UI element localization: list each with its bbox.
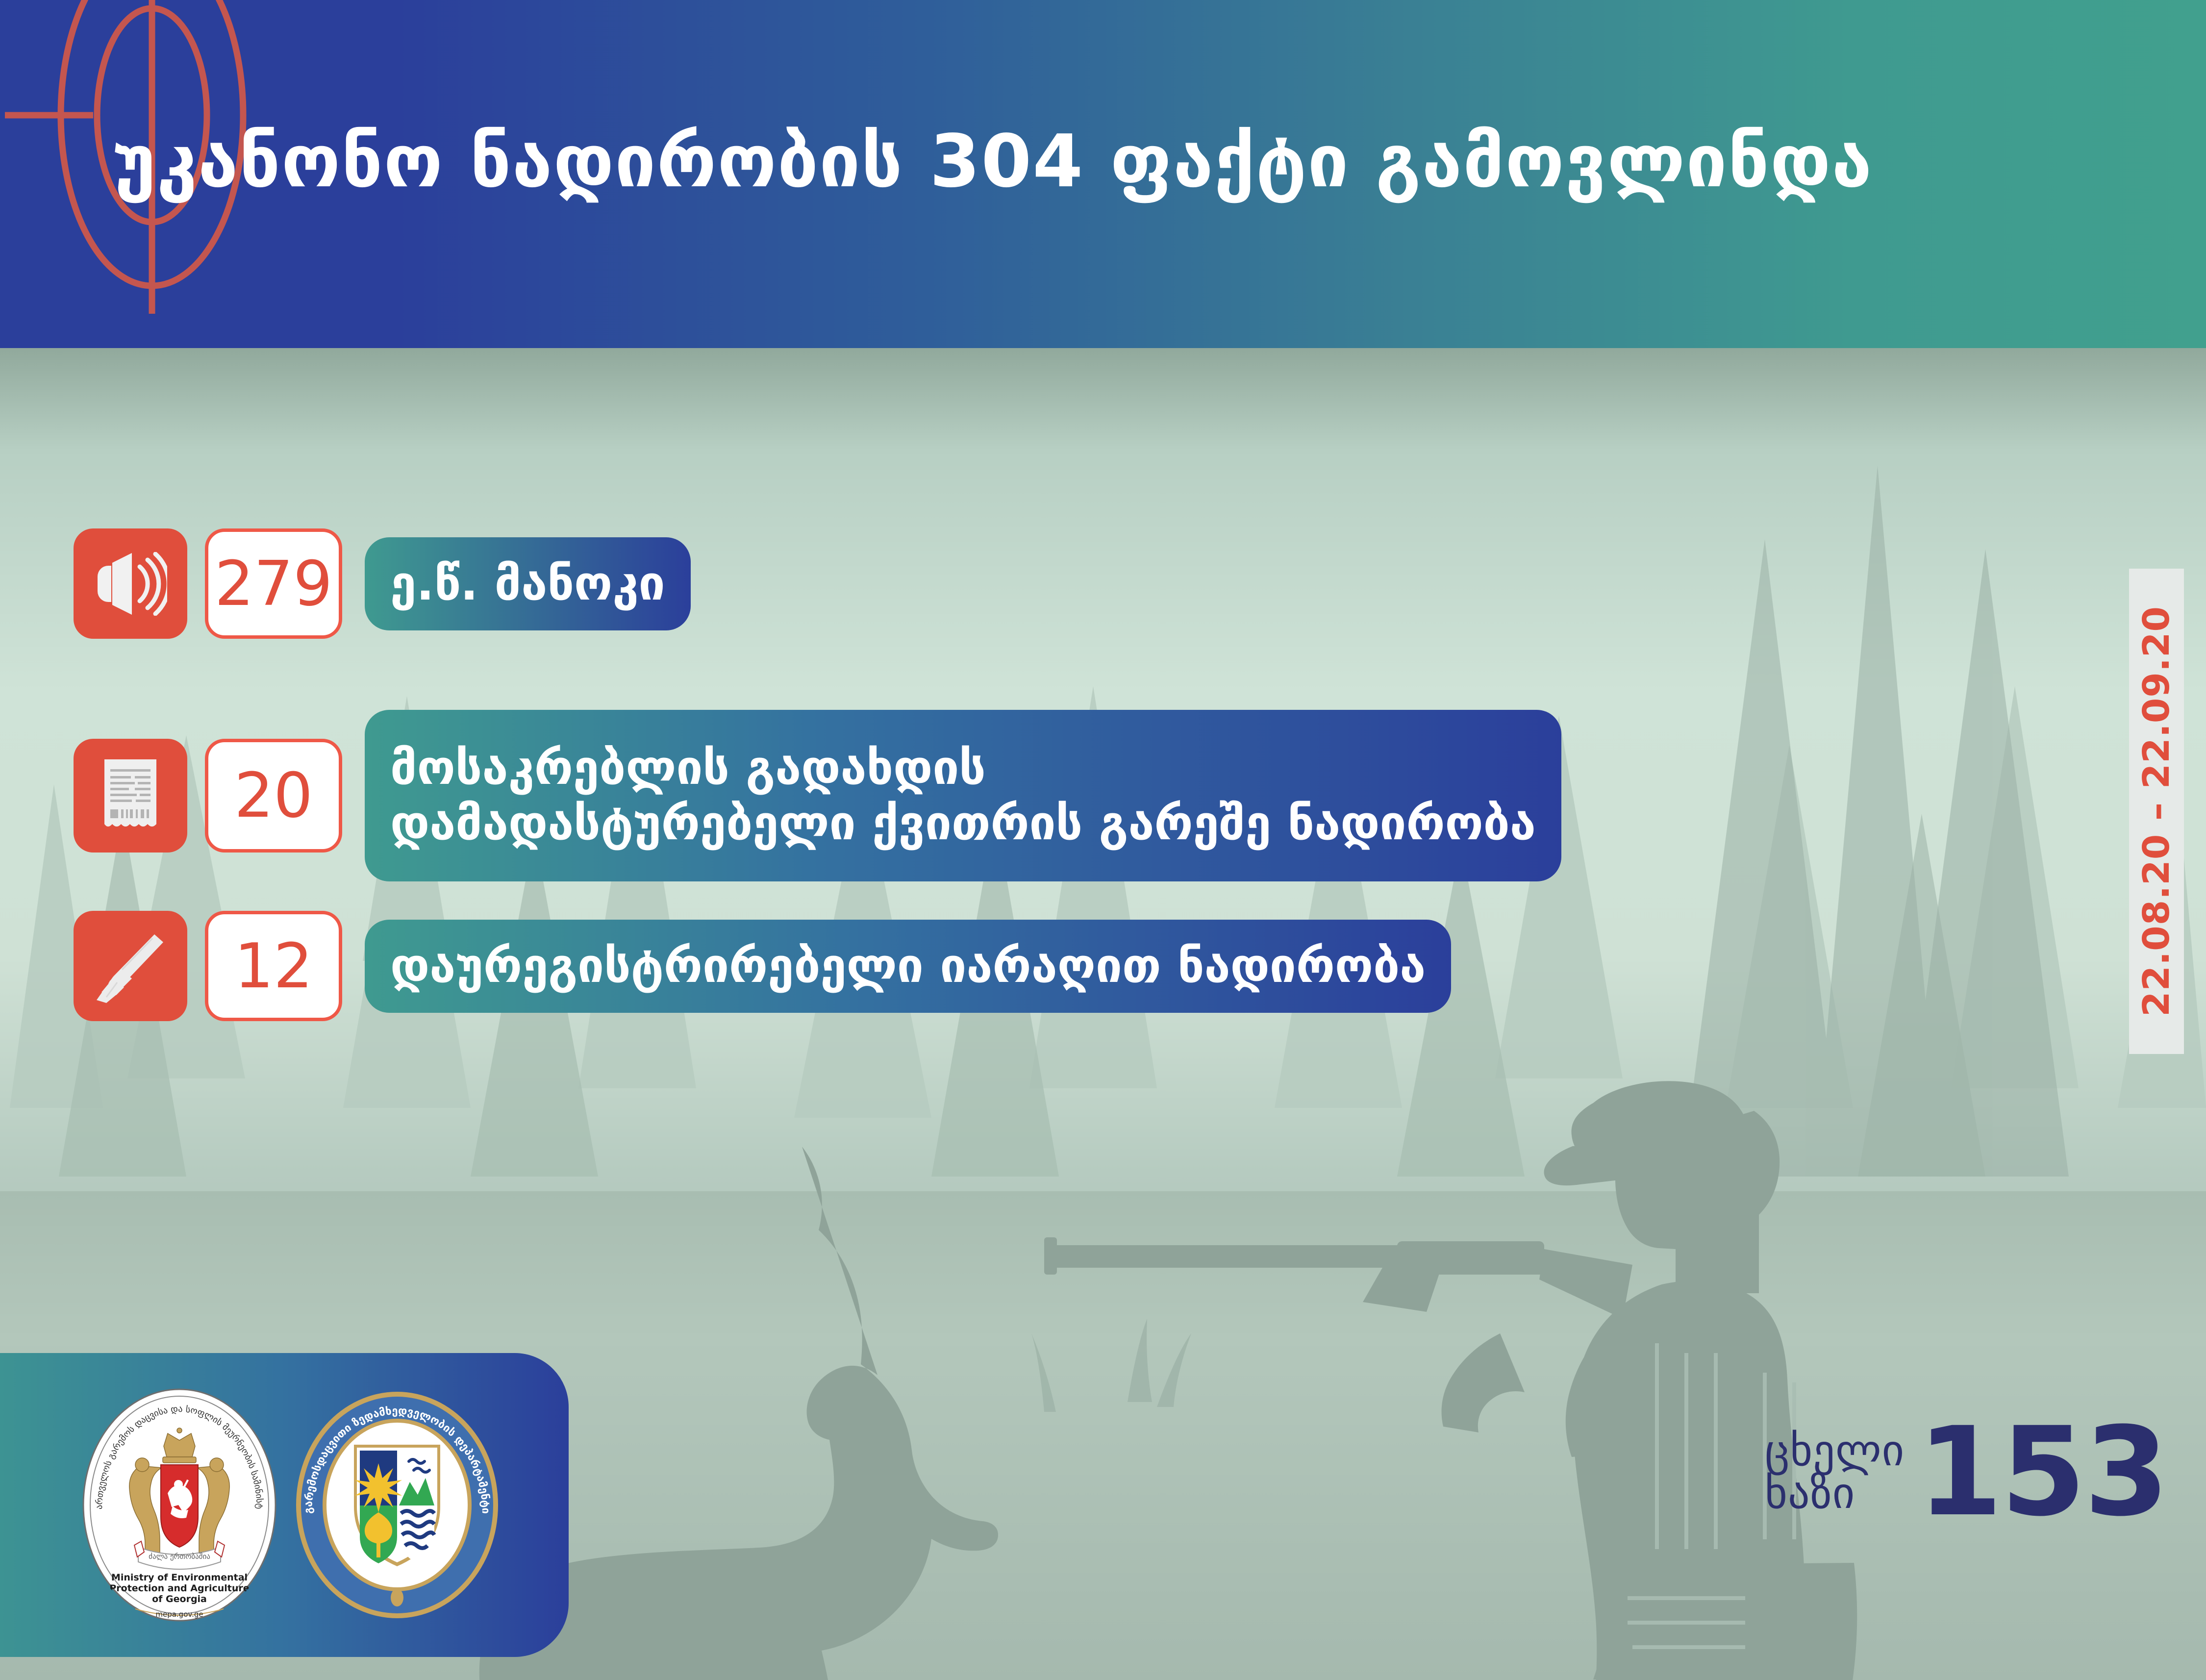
stat-value: 279 xyxy=(205,528,342,639)
stat-label: დაურეგისტრირებელი იარაღით ნადირობა xyxy=(365,920,1451,1013)
rifle-icon xyxy=(92,929,169,1003)
receipt-icon-tile xyxy=(74,739,187,853)
ministry-website: mepa.gov.ge xyxy=(155,1610,203,1619)
hotline-line-2: ხაზი xyxy=(1765,1472,1905,1514)
infographic-poster: უკანონო ნადირობის 304 ფაქტი გამოვლინდა 2… xyxy=(0,0,2206,1680)
megaphone-icon-tile xyxy=(74,528,187,639)
svg-text:Ministry of Environmental: Ministry of Environmental xyxy=(111,1572,248,1583)
rifle-icon-tile xyxy=(74,911,187,1021)
hotline-line-1: ცხელი xyxy=(1765,1429,1905,1472)
ministry-motto: ძალა ერთობაშია xyxy=(149,1552,210,1561)
stat-value: 20 xyxy=(205,739,342,853)
stat-row: 20 მოსაკრებლის გადახდის დამადასტურებელი … xyxy=(74,710,1561,881)
stat-label: ე.წ. მანოკი xyxy=(365,537,691,630)
hotline-number: 153 xyxy=(1917,1422,2167,1522)
date-range-text: 22.08.20 – 22.09.20 xyxy=(2135,606,2178,1017)
stat-row: 279 ე.წ. მანოკი xyxy=(74,528,691,639)
environmental-supervision-emblem: გარემოსდაცვითი ზედამხედველობის დეპარტამე… xyxy=(294,1390,500,1620)
stat-row: 12 დაურეგისტრირებელი იარაღით ნადირობა xyxy=(74,911,1451,1021)
megaphone-icon xyxy=(94,552,167,616)
svg-text:Protection and Agriculture: Protection and Agriculture xyxy=(109,1583,249,1594)
stat-label: მოსაკრებლის გადახდის დამადასტურებელი ქვი… xyxy=(365,710,1561,881)
date-range-badge: 22.08.20 – 22.09.20 xyxy=(2129,569,2184,1054)
stat-value: 12 xyxy=(205,911,342,1021)
svg-text:of Georgia: of Georgia xyxy=(152,1594,207,1605)
ministry-emblem: ძალა ერთობაშია საქართველოს გარემოს დაცვი… xyxy=(81,1387,277,1623)
footer-logo-panel: ძალა ერთობაშია საქართველოს გარემოს დაცვი… xyxy=(0,1353,569,1657)
receipt-icon xyxy=(101,758,159,833)
hotline-label: ცხელი ხაზი xyxy=(1765,1429,1905,1514)
hotline-block: ცხელი ხაზი 153 xyxy=(1765,1422,2167,1522)
